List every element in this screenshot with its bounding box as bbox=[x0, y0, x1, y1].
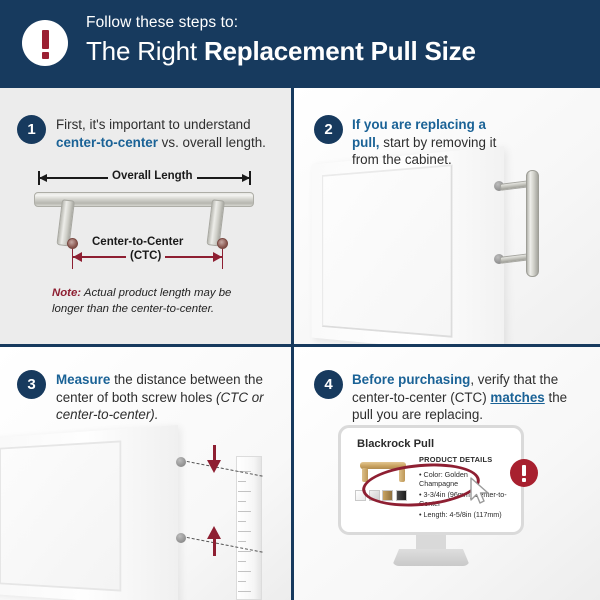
note-label: Note: bbox=[52, 287, 81, 299]
product-detail-item: • Length: 4-5/8in (117mm) bbox=[419, 510, 507, 519]
page-title: The Right Replacement Pull Size bbox=[86, 36, 476, 67]
ctc-arrow-left bbox=[73, 252, 82, 262]
note-text: Note: Actual product length may be longe… bbox=[52, 285, 262, 317]
measure-arrow-stem-bottom bbox=[213, 539, 216, 556]
exclamation-icon bbox=[22, 20, 68, 66]
alert-stem bbox=[522, 465, 526, 476]
screw-hole-bottom-measure bbox=[176, 533, 186, 543]
step4-accent: Before purchasing bbox=[352, 372, 470, 387]
step3-accent: Measure bbox=[56, 372, 110, 387]
cabinet-door-measure bbox=[0, 425, 178, 600]
step-text-4: Before purchasing, verify that the cente… bbox=[352, 371, 584, 424]
step-panel-1: 1 First, it's important to understand ce… bbox=[0, 88, 291, 344]
ctc-label-line2: (CTC) bbox=[126, 250, 165, 262]
alert-exclamation-icon bbox=[510, 459, 538, 487]
step-panel-2: 2 If you are replacing a pull, start by … bbox=[294, 88, 600, 344]
overall-length-label: Overall Length bbox=[108, 170, 197, 182]
alert-dot bbox=[522, 478, 526, 482]
exclamation-stem bbox=[42, 30, 49, 49]
header-kicker: Follow these steps to: bbox=[86, 14, 238, 32]
step-panel-4: Blackrock Pull PRODUCT DETAILS • Color: … bbox=[294, 347, 600, 600]
cabinet-door-inset bbox=[322, 164, 453, 337]
product-title: Blackrock Pull bbox=[357, 438, 434, 450]
exclamation-dot bbox=[42, 52, 49, 59]
horizontal-divider bbox=[0, 344, 600, 347]
ctc-arrow-right bbox=[213, 252, 222, 262]
screw-hole-left bbox=[67, 238, 78, 249]
mouse-cursor-icon bbox=[469, 477, 493, 507]
cabinet-door bbox=[312, 146, 504, 344]
title-bold-part: Replacement Pull Size bbox=[204, 36, 476, 66]
overall-length-arrow-left bbox=[39, 174, 47, 182]
measure-arrow-down-icon bbox=[207, 460, 221, 473]
step-badge-2: 2 bbox=[314, 115, 343, 144]
cabinet-pull-bar bbox=[526, 170, 539, 277]
screw-hole-top-measure bbox=[176, 457, 186, 467]
ctc-label-line1: Center-to-Center bbox=[92, 236, 183, 248]
title-light-part: The Right bbox=[86, 36, 204, 66]
ruler-graphic bbox=[236, 456, 262, 600]
matches-link[interactable]: matches bbox=[490, 390, 544, 405]
step-badge-4: 4 bbox=[314, 370, 343, 399]
step-text-2: If you are replacing a pull, start by re… bbox=[352, 116, 502, 169]
cabinet-door-inset-measure bbox=[0, 440, 121, 591]
overall-length-arrow-right bbox=[242, 174, 250, 182]
step-badge-3: 3 bbox=[17, 370, 46, 399]
step-text-3: Measure the distance between the center … bbox=[56, 371, 278, 424]
infographic-root: Follow these steps to: The Right Replace… bbox=[0, 0, 600, 600]
screw-hole-right bbox=[217, 238, 228, 249]
step-panel-3: 3 Measure the distance between the cente… bbox=[0, 347, 291, 600]
pull-dimension-diagram: Overall Length Center-to-Center (CTC) No… bbox=[0, 88, 291, 344]
measure-arrow-up-icon bbox=[207, 526, 221, 539]
monitor-base bbox=[392, 549, 470, 566]
header-banner: Follow these steps to: The Right Replace… bbox=[0, 0, 600, 88]
